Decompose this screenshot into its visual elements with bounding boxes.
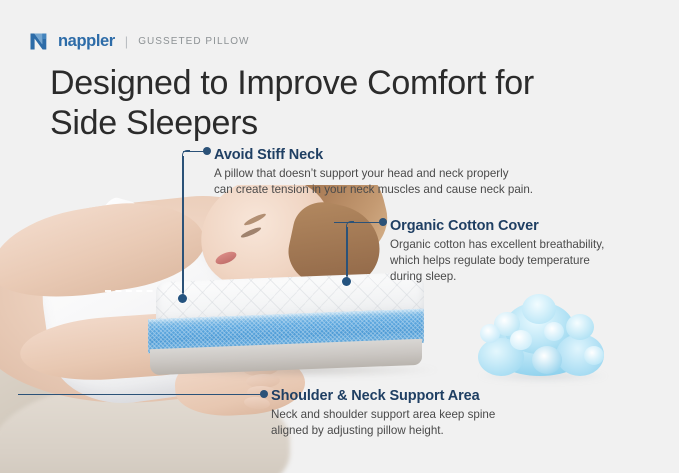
callout-avoid-stiff-neck: Avoid Stiff Neck A pillow that doesn’t s… xyxy=(214,147,533,198)
callout-2-body: Organic cotton has excellent breathabili… xyxy=(390,237,604,284)
callout-1-connector-elbow xyxy=(182,150,190,158)
headline-line-1: Designed to Improve Comfort for xyxy=(50,64,534,102)
callout-1-anchor-dot-neck xyxy=(178,294,187,303)
callout-2-label-dot xyxy=(379,218,387,226)
headline-line-2: Side Sleepers xyxy=(50,104,258,142)
nappler-n-logo-icon xyxy=(28,31,49,52)
page-title: Designed to Improve Comfort for Side Sle… xyxy=(50,63,650,143)
callout-3-body-line-2: aligned by adjusting pillow height. xyxy=(271,424,444,437)
callout-1-body-line-1: A pillow that doesn’t support your head … xyxy=(214,167,509,180)
brand-separator: | xyxy=(125,35,128,48)
callout-1-connector-vertical xyxy=(182,156,184,298)
gusseted-pillow-photo xyxy=(148,277,424,371)
callout-3-body: Neck and shoulder support area keep spin… xyxy=(271,407,495,439)
callout-2-connector-vertical xyxy=(346,227,348,279)
callout-2-body-line-3: during sleep. xyxy=(390,270,456,283)
callout-3-title: Shoulder & Neck Support Area xyxy=(271,388,495,405)
callout-1-body-line-2: can create tension in your neck muscles … xyxy=(214,183,533,196)
callout-shoulder-neck-support-area: Shoulder & Neck Support Area Neck and sh… xyxy=(271,388,495,439)
brand-header: nappler | GUSSETED PILLOW xyxy=(28,31,250,52)
callout-1-body: A pillow that doesn’t support your head … xyxy=(214,166,533,198)
callout-2-body-line-1: Organic cotton has excellent breathabili… xyxy=(390,238,604,251)
shredded-memory-foam-pile-photo xyxy=(474,294,606,376)
callout-3-body-line-1: Neck and shoulder support area keep spin… xyxy=(271,408,495,421)
callout-1-label-dot xyxy=(203,147,211,155)
callout-3-connector-horizontal xyxy=(18,394,262,396)
callout-1-title: Avoid Stiff Neck xyxy=(214,147,533,164)
callout-2-connector-tail xyxy=(334,222,348,224)
product-line-label: GUSSETED PILLOW xyxy=(138,37,249,47)
callout-organic-cotton-cover: Organic Cotton Cover Organic cotton has … xyxy=(390,218,604,285)
brand-name: nappler xyxy=(58,33,115,50)
callout-2-title: Organic Cotton Cover xyxy=(390,218,604,235)
callout-2-body-line-2: which helps regulate body temperature xyxy=(390,254,590,267)
infographic-canvas: nappler | GUSSETED PILLOW Designed to Im… xyxy=(0,0,679,473)
callout-3-label-dot xyxy=(260,390,268,398)
callout-2-anchor-dot-cover xyxy=(342,277,351,286)
